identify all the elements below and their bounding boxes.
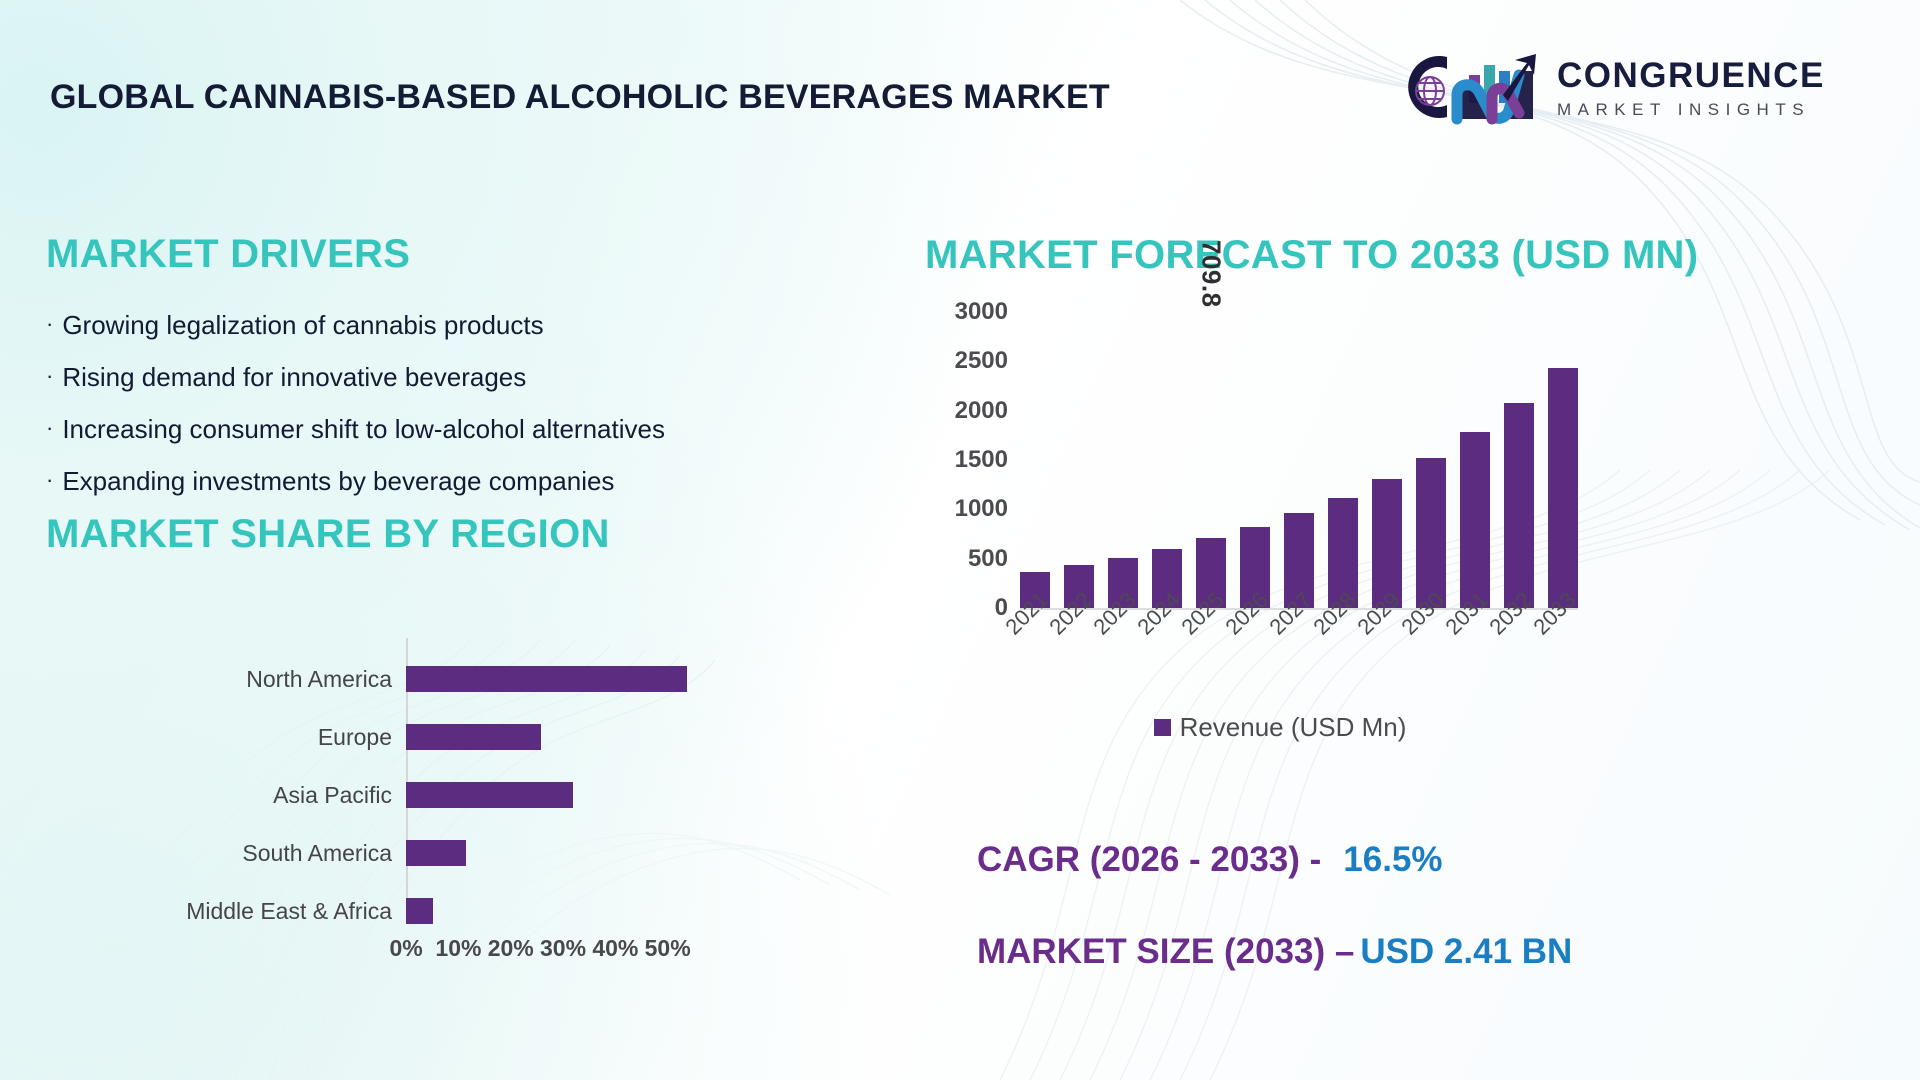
- legend-label: Revenue (USD Mn): [1180, 712, 1407, 743]
- list-item: · Growing legalization of cannabis produ…: [46, 312, 906, 338]
- forecast-y-tick: 500: [968, 545, 1008, 573]
- forecast-bar-column: [1328, 312, 1358, 608]
- forecast-bar: [1416, 458, 1446, 608]
- forecast-bar: [1548, 368, 1578, 608]
- bullet-icon: ·: [46, 468, 53, 492]
- forecast-legend: Revenue (USD Mn): [930, 712, 1630, 743]
- forecast-bar-column: [1284, 312, 1314, 608]
- page-title: GLOBAL CANNABIS-BASED ALCOHOLIC BEVERAGE…: [50, 78, 1110, 117]
- region-chart-rows: North AmericaEuropeAsia PacificSouth Ame…: [60, 650, 720, 940]
- forecast-bar-column: [1108, 312, 1138, 608]
- forecast-y-axis-labels: 050010001500200025003000: [930, 312, 1008, 608]
- region-bar-track: [406, 766, 720, 824]
- cagr-kpi: CAGR (2026 - 2033) -16.5%: [977, 840, 1443, 880]
- forecast-bar: [1504, 403, 1534, 608]
- list-item-label: Expanding investments by beverage compan…: [62, 468, 614, 494]
- region-row-label: Middle East & Africa: [60, 898, 406, 925]
- list-item-label: Rising demand for innovative beverages: [62, 364, 526, 390]
- forecast-data-label: 709.8: [1196, 240, 1227, 308]
- bullet-icon: ·: [46, 312, 53, 336]
- forecast-plot-area: 709.8: [1020, 312, 1578, 610]
- company-logo: CONGRUENCE MARKET INSIGHTS: [1395, 45, 1825, 130]
- forecast-x-tick: 2033: [1548, 612, 1578, 684]
- region-bar: [406, 898, 433, 924]
- region-bar-track: [406, 824, 720, 882]
- region-row: Asia Pacific: [60, 766, 720, 824]
- logo-tagline: MARKET INSIGHTS: [1557, 101, 1825, 118]
- market-drivers-heading: MARKET DRIVERS: [46, 232, 410, 277]
- bullet-icon: ·: [46, 416, 53, 440]
- region-row-label: North America: [60, 666, 406, 693]
- list-item: · Increasing consumer shift to low-alcoh…: [46, 416, 906, 442]
- forecast-bar-column: [1548, 312, 1578, 608]
- cagr-label: CAGR (2026 - 2033) -: [977, 840, 1321, 879]
- logo-mark-icon: [1395, 45, 1543, 130]
- region-x-tick-label: 40%: [589, 935, 641, 962]
- region-row: South America: [60, 824, 720, 882]
- region-bar: [406, 840, 466, 866]
- region-bar-track: [406, 708, 720, 766]
- forecast-bar-column: [1372, 312, 1402, 608]
- legend-swatch-icon: [1154, 719, 1171, 736]
- list-item-label: Growing legalization of cannabis product…: [62, 312, 543, 338]
- region-row-label: South America: [60, 840, 406, 867]
- market-drivers-list: · Growing legalization of cannabis produ…: [46, 312, 906, 520]
- list-item-label: Increasing consumer shift to low-alcohol…: [62, 416, 665, 442]
- region-row: Europe: [60, 708, 720, 766]
- forecast-bar-column: [1020, 312, 1050, 608]
- forecast-x-axis-labels: 2021202220232024202520262027202820292030…: [1020, 612, 1578, 684]
- list-item: · Rising demand for innovative beverages: [46, 364, 906, 390]
- region-x-tick-label: 50%: [641, 935, 693, 962]
- market-forecast-chart: 050010001500200025003000 709.8 202120222…: [930, 312, 1630, 612]
- forecast-bar-column: 709.8: [1196, 312, 1226, 608]
- region-bar: [406, 724, 541, 750]
- forecast-bar-column: [1240, 312, 1270, 608]
- market-size-value: USD 2.41 BN: [1360, 932, 1572, 971]
- region-row-label: Europe: [60, 724, 406, 751]
- infographic-canvas: GLOBAL CANNABIS-BASED ALCOHOLIC BEVERAGE…: [0, 0, 1920, 1080]
- forecast-y-tick: 2500: [955, 347, 1008, 375]
- region-bar-track: [406, 882, 720, 940]
- forecast-bar-column: [1064, 312, 1094, 608]
- region-row: North America: [60, 650, 720, 708]
- list-item: · Expanding investments by beverage comp…: [46, 468, 906, 494]
- forecast-y-tick: 2000: [955, 397, 1008, 425]
- market-size-kpi: MARKET SIZE (2033) –USD 2.41 BN: [977, 932, 1572, 972]
- forecast-y-tick: 1000: [955, 495, 1008, 523]
- forecast-bar-column: [1460, 312, 1490, 608]
- forecast-y-tick: 1500: [955, 446, 1008, 474]
- market-size-label: MARKET SIZE (2033) –: [977, 932, 1354, 971]
- bullet-icon: ·: [46, 364, 53, 388]
- region-x-tick-label: 0%: [380, 935, 432, 962]
- forecast-y-tick: 3000: [955, 298, 1008, 326]
- region-chart-x-ticks: 0%10%20%30%40%50%: [406, 935, 720, 962]
- cagr-value: 16.5%: [1343, 840, 1442, 879]
- region-x-tick-label: 30%: [537, 935, 589, 962]
- region-bar: [406, 782, 573, 808]
- region-x-tick-label: 10%: [432, 935, 484, 962]
- forecast-bar-column: [1152, 312, 1182, 608]
- forecast-bar-column: [1504, 312, 1534, 608]
- region-bar: [406, 666, 687, 692]
- logo-company-name: CONGRUENCE: [1557, 58, 1825, 93]
- region-row-label: Asia Pacific: [60, 782, 406, 809]
- forecast-bar-column: [1416, 312, 1446, 608]
- region-row: Middle East & Africa: [60, 882, 720, 940]
- market-forecast-heading: MARKET FORECAST TO 2033 (USD MN): [925, 233, 1698, 278]
- region-bar-track: [406, 650, 720, 708]
- forecast-bar: [1460, 432, 1490, 608]
- market-share-by-region-chart: North AmericaEuropeAsia PacificSouth Ame…: [60, 630, 720, 960]
- region-x-tick-label: 20%: [485, 935, 537, 962]
